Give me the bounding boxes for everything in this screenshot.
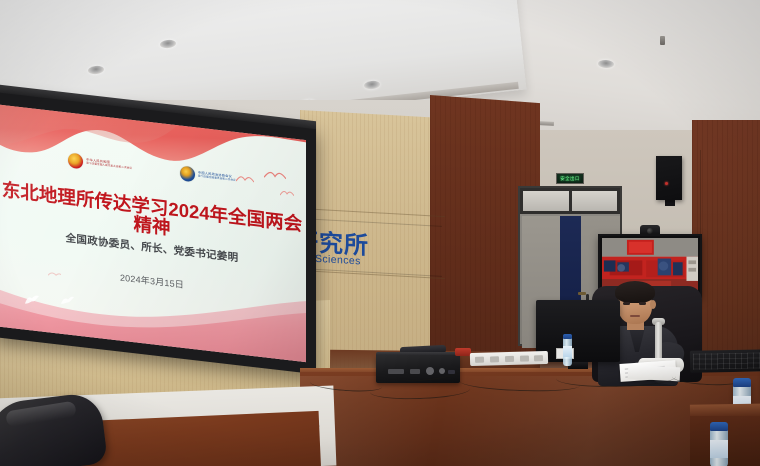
person-mouth (630, 315, 640, 317)
transom-pane (572, 191, 618, 211)
power-socket (505, 356, 514, 362)
exit-sign-label: 安全出口 (560, 176, 580, 182)
emergency-exit-sign: 安全出口 (556, 173, 584, 184)
cppcc-emblem-icon (180, 166, 195, 183)
bird-silhouette-icon (236, 174, 254, 185)
bottle-label (563, 346, 572, 357)
door-transom (520, 188, 620, 214)
dove-silhouette-icon (60, 294, 75, 307)
person-eye (639, 302, 646, 305)
bird-silhouette-icon (280, 189, 294, 198)
foreground-bottle-cap (710, 422, 728, 431)
person-ear (650, 300, 656, 309)
foreground-bottle-label (710, 440, 728, 458)
keyboard-keys[interactable] (693, 352, 760, 369)
desk-monitor[interactable] (536, 300, 620, 362)
amplifier-control[interactable] (388, 369, 404, 374)
conference-room-photo: 研究所 my of Sciences (0, 0, 760, 466)
npc-emblem-icon (68, 153, 83, 170)
door-handle[interactable] (578, 292, 586, 295)
bottle-cap (563, 334, 572, 339)
sprinkler-head (660, 36, 665, 45)
power-socket (475, 357, 484, 363)
power-strip[interactable] (470, 351, 548, 366)
power-socket (520, 355, 529, 361)
speaker-led-icon (665, 182, 668, 185)
power-socket (534, 355, 543, 361)
person-hair (615, 281, 655, 303)
person-eye (623, 302, 630, 305)
bottle-cap (733, 378, 751, 387)
dove-silhouette-icon (24, 292, 40, 306)
wall-speaker (656, 156, 682, 200)
projection-screen: 中华人民共和国 第十四届全国人民代表大会第二次会议 中国人民政治协商会议 第十四… (0, 92, 316, 374)
dove-silhouette-icon (48, 270, 61, 279)
transom-pane (523, 191, 569, 211)
red-power-plug (455, 348, 471, 356)
microphone-stand[interactable] (655, 322, 662, 362)
presentation-slide: 中华人民共和国 第十四届全国人民代表大会第二次会议 中国人民政治协商会议 第十四… (0, 104, 306, 362)
office-chair-left[interactable] (0, 391, 108, 466)
power-socket (490, 356, 499, 362)
institute-wall-sign: 研究所 my of Sciences (300, 200, 445, 286)
